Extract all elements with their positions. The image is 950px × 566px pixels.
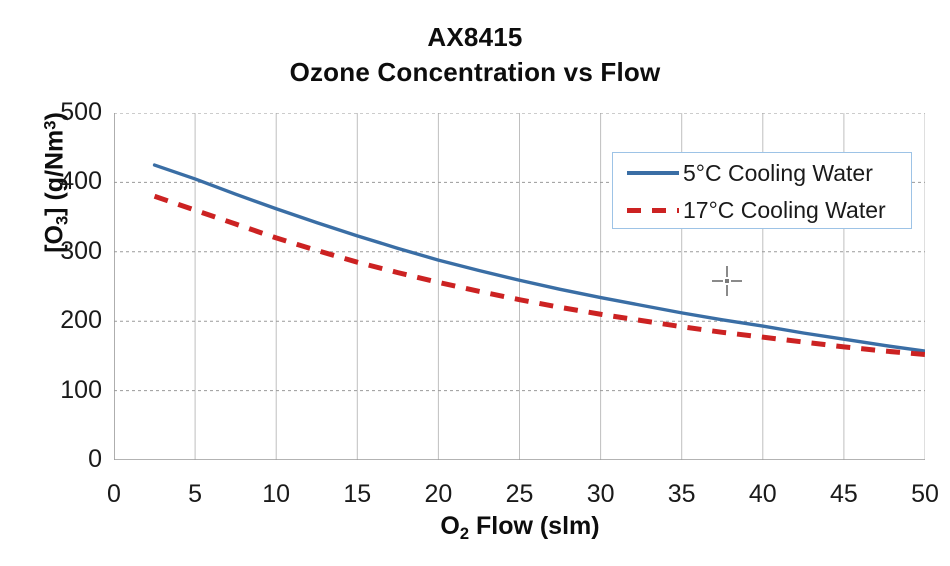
x-tick-label: 40: [733, 482, 793, 507]
x-tick-label: 50: [895, 482, 950, 507]
y-tick-label: 200: [36, 308, 102, 333]
legend-line-icon-dashed: [627, 200, 679, 220]
x-tick-label: 25: [490, 482, 550, 507]
y-axis-tick-labels: 0100200300400500: [30, 113, 102, 460]
chart-legend[interactable]: 5°C Cooling Water 17°C Cooling Water: [612, 152, 912, 229]
chart-container: AX8415 Ozone Concentration vs Flow [O3] …: [0, 0, 950, 566]
y-tick-label: 500: [36, 100, 102, 125]
y-tick-label: 400: [36, 169, 102, 194]
x-axis-title: O2 Flow (slm): [114, 512, 926, 541]
x-tick-label: 30: [571, 482, 631, 507]
y-tick-label: 0: [36, 447, 102, 472]
x-tick-label: 35: [652, 482, 712, 507]
legend-label-1: 17°C Cooling Water: [683, 199, 886, 222]
x-axis-tick-labels: 05101520253035404550: [114, 470, 925, 504]
x-tick-label: 15: [327, 482, 387, 507]
chart-title: AX8415: [0, 22, 950, 52]
y-tick-label: 100: [36, 378, 102, 403]
crosshair-cursor-icon: [712, 266, 742, 296]
chart-title-block: AX8415 Ozone Concentration vs Flow: [0, 22, 950, 88]
x-tick-label: 45: [814, 482, 874, 507]
legend-line-icon-solid: [627, 163, 679, 183]
legend-item-0[interactable]: 5°C Cooling Water: [613, 154, 913, 192]
x-tick-label: 10: [246, 482, 306, 507]
legend-label-0: 5°C Cooling Water: [683, 162, 873, 185]
y-tick-label: 300: [36, 239, 102, 264]
x-tick-label: 5: [165, 482, 225, 507]
x-tick-label: 20: [408, 482, 468, 507]
legend-item-1[interactable]: 17°C Cooling Water: [613, 191, 913, 229]
chart-subtitle: Ozone Concentration vs Flow: [0, 56, 950, 88]
x-tick-label: 0: [84, 482, 144, 507]
